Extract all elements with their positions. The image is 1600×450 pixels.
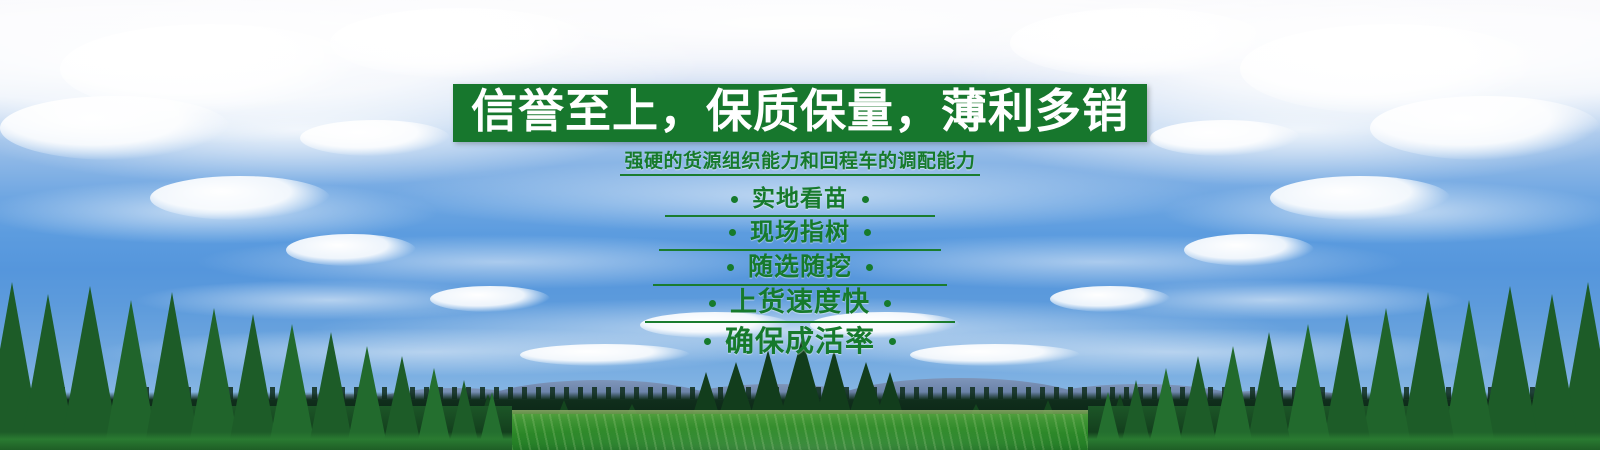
- bullet-dot-icon: [889, 338, 896, 345]
- feature-item-1: 实地看苗: [665, 184, 935, 217]
- feature-item-2: 现场指树: [659, 217, 941, 251]
- bullet-dot-icon: [884, 300, 891, 307]
- promotional-banner: 信誉至上，保质保量，薄利多销 强硬的货源组织能力和回程车的调配能力 实地看苗 现…: [0, 0, 1600, 450]
- bullet-dot-icon: [704, 338, 711, 345]
- bullet-dot-icon: [862, 196, 869, 203]
- feature-item-3: 随选随挖: [653, 251, 947, 286]
- bullet-dot-icon: [709, 300, 716, 307]
- banner-content: 信誉至上，保质保量，薄利多销 强硬的货源组织能力和回程车的调配能力 实地看苗 现…: [0, 0, 1600, 450]
- feature-label: 确保成活率: [725, 324, 875, 358]
- headline-band: 信誉至上，保质保量，薄利多销: [453, 84, 1147, 142]
- feature-list: 实地看苗 现场指树 随选随挖 上货速度快 确保成活率: [637, 184, 963, 360]
- bullet-dot-icon: [729, 229, 736, 236]
- feature-item-4: 上货速度快: [645, 286, 955, 323]
- bullet-dot-icon: [864, 229, 871, 236]
- feature-item-5: 确保成活率: [637, 323, 963, 360]
- headline-text: 信誉至上，保质保量，薄利多销: [471, 88, 1129, 134]
- feature-label: 上货速度快: [730, 287, 870, 319]
- bullet-dot-icon: [731, 196, 738, 203]
- bullet-dot-icon: [727, 264, 734, 271]
- feature-label: 随选随挖: [748, 252, 852, 282]
- bullet-dot-icon: [866, 264, 873, 271]
- feature-label: 现场指树: [750, 218, 850, 247]
- feature-label: 实地看苗: [752, 185, 848, 213]
- subtitle-text: 强硬的货源组织能力和回程车的调配能力: [620, 150, 979, 176]
